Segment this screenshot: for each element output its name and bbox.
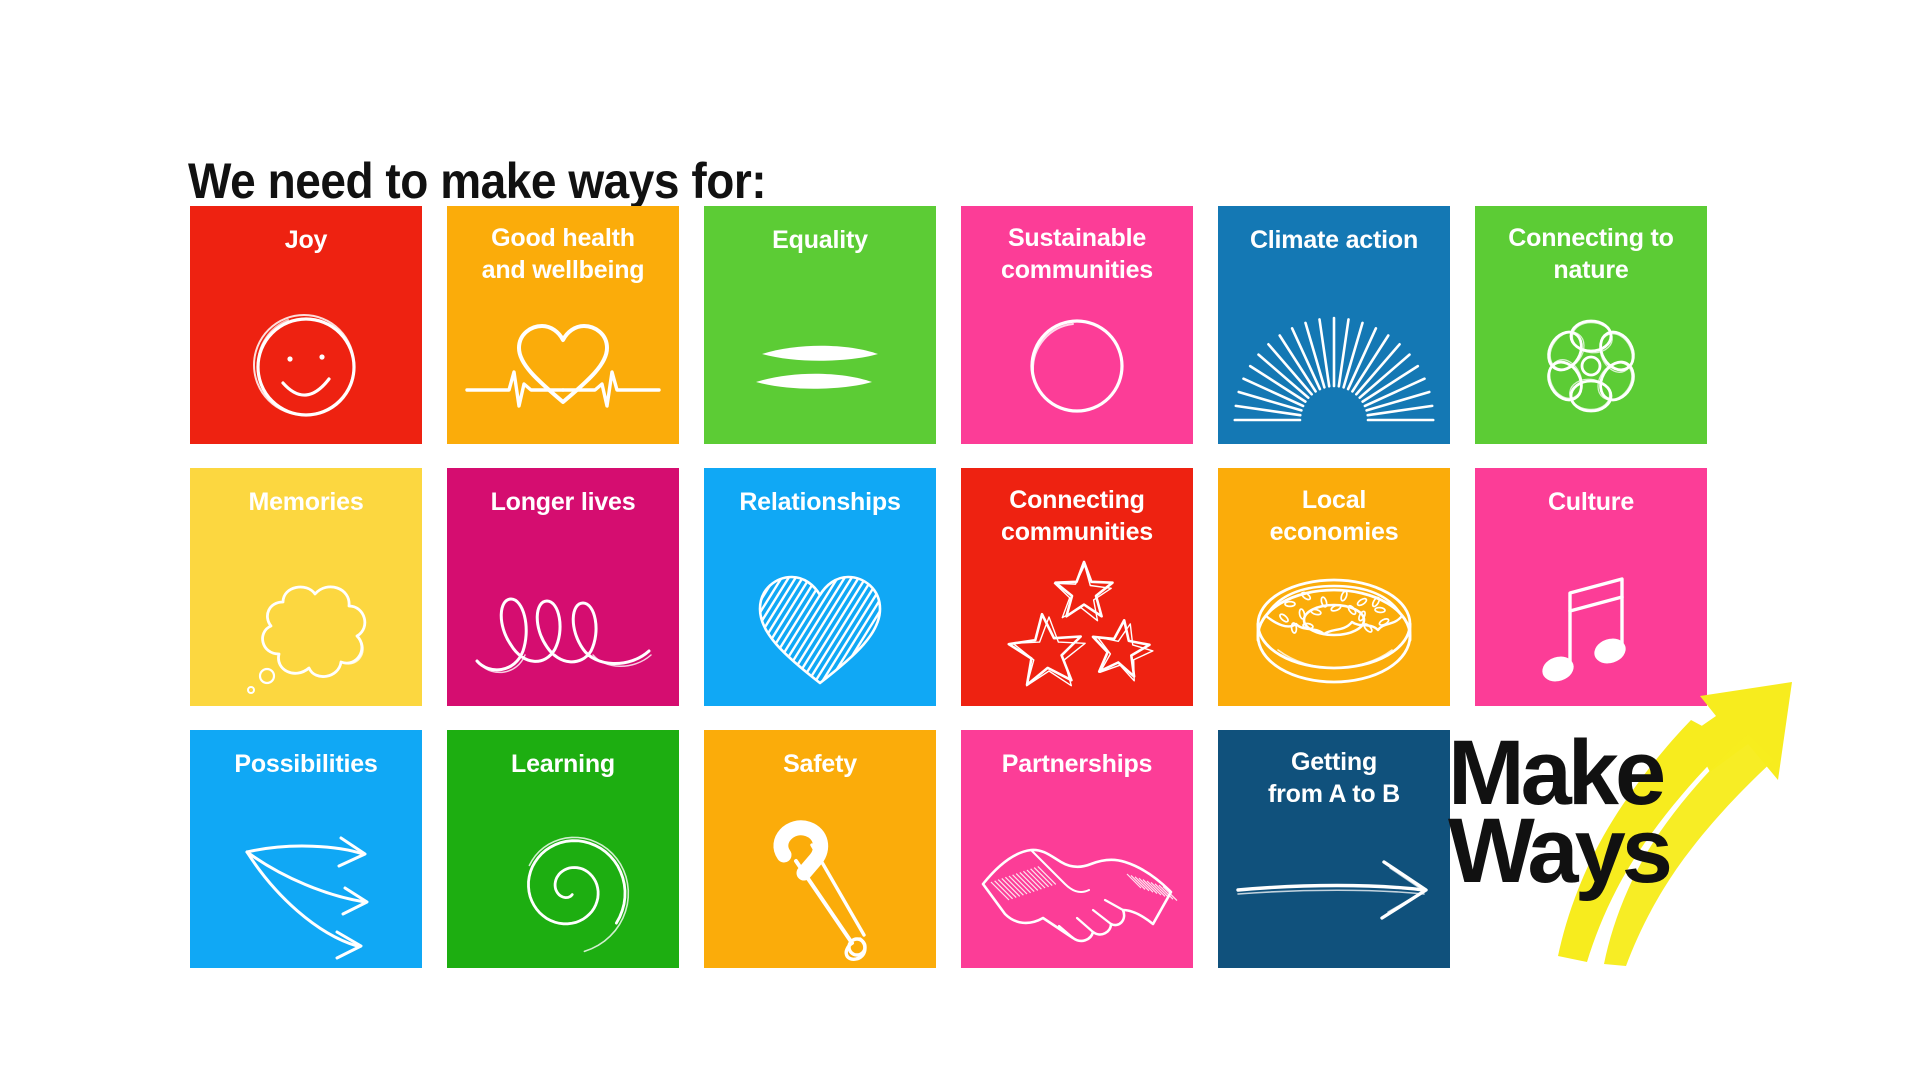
slide-canvas: We need to make ways for: Joy Good healt… <box>0 0 1918 1076</box>
value-tile[interactable]: Possibilities <box>190 730 422 968</box>
value-tile-label: Getting from A to B <box>1218 746 1450 810</box>
value-tile[interactable]: Good health and wellbeing <box>447 206 679 444</box>
hatched-heart-icon <box>704 558 936 698</box>
loop-squiggle-icon <box>447 558 679 698</box>
flower-icon <box>1475 296 1707 436</box>
values-tile-grid: Joy Good health and wellbeing Equality S… <box>190 206 1670 968</box>
three-stars-icon <box>961 558 1193 698</box>
music-note-icon <box>1475 558 1707 698</box>
value-tile-label: Good health and wellbeing <box>447 222 679 286</box>
value-tile-label: Partnerships <box>961 746 1193 780</box>
value-tile[interactable]: Equality <box>704 206 936 444</box>
spiral-icon <box>447 820 679 960</box>
value-tile[interactable]: Sustainable communities <box>961 206 1193 444</box>
value-tile[interactable]: Culture <box>1475 468 1707 706</box>
make-ways-logo: Make Ways <box>1448 676 1868 976</box>
value-tile[interactable]: Connecting communities <box>961 468 1193 706</box>
value-tile-label: Joy <box>190 222 422 256</box>
value-tile-label: Memories <box>190 484 422 518</box>
donut-icon <box>1218 558 1450 698</box>
value-tile[interactable]: Safety <box>704 730 936 968</box>
value-tile-label: Longer lives <box>447 484 679 518</box>
value-tile-label: Sustainable communities <box>961 222 1193 286</box>
value-tile[interactable]: Relationships <box>704 468 936 706</box>
value-tile[interactable]: Climate action <box>1218 206 1450 444</box>
value-tile-label: Culture <box>1475 484 1707 518</box>
value-tile-label: Connecting communities <box>961 484 1193 548</box>
value-tile-label: Equality <box>704 222 936 256</box>
value-tile-label: Local economies <box>1218 484 1450 548</box>
value-tile[interactable]: Getting from A to B <box>1218 730 1450 968</box>
right-arrow-icon <box>1218 820 1450 960</box>
svg-text:Ways: Ways <box>1448 800 1670 902</box>
value-tile[interactable]: Partnerships <box>961 730 1193 968</box>
value-tile-label: Learning <box>447 746 679 780</box>
value-tile[interactable]: Joy <box>190 206 422 444</box>
value-tile[interactable]: Local economies <box>1218 468 1450 706</box>
value-tile[interactable]: Connecting to nature <box>1475 206 1707 444</box>
value-tile-label: Connecting to nature <box>1475 222 1707 286</box>
handshake-icon <box>961 820 1193 960</box>
value-tile[interactable]: Longer lives <box>447 468 679 706</box>
smiley-face-icon <box>190 296 422 436</box>
circle-icon <box>961 296 1193 436</box>
safety-pin-icon <box>704 820 936 960</box>
value-tile-label: Safety <box>704 746 936 780</box>
value-tile[interactable]: Learning <box>447 730 679 968</box>
sunburst-icon <box>1218 296 1450 436</box>
heart-pulse-icon <box>447 296 679 436</box>
three-arrows-icon <box>190 820 422 960</box>
value-tile-label: Possibilities <box>190 746 422 780</box>
page-title: We need to make ways for: <box>188 152 766 210</box>
thought-bubble-icon <box>190 558 422 698</box>
equals-sign-icon <box>704 296 936 436</box>
value-tile-label: Relationships <box>704 484 936 518</box>
value-tile-label: Climate action <box>1218 222 1450 256</box>
value-tile[interactable]: Memories <box>190 468 422 706</box>
